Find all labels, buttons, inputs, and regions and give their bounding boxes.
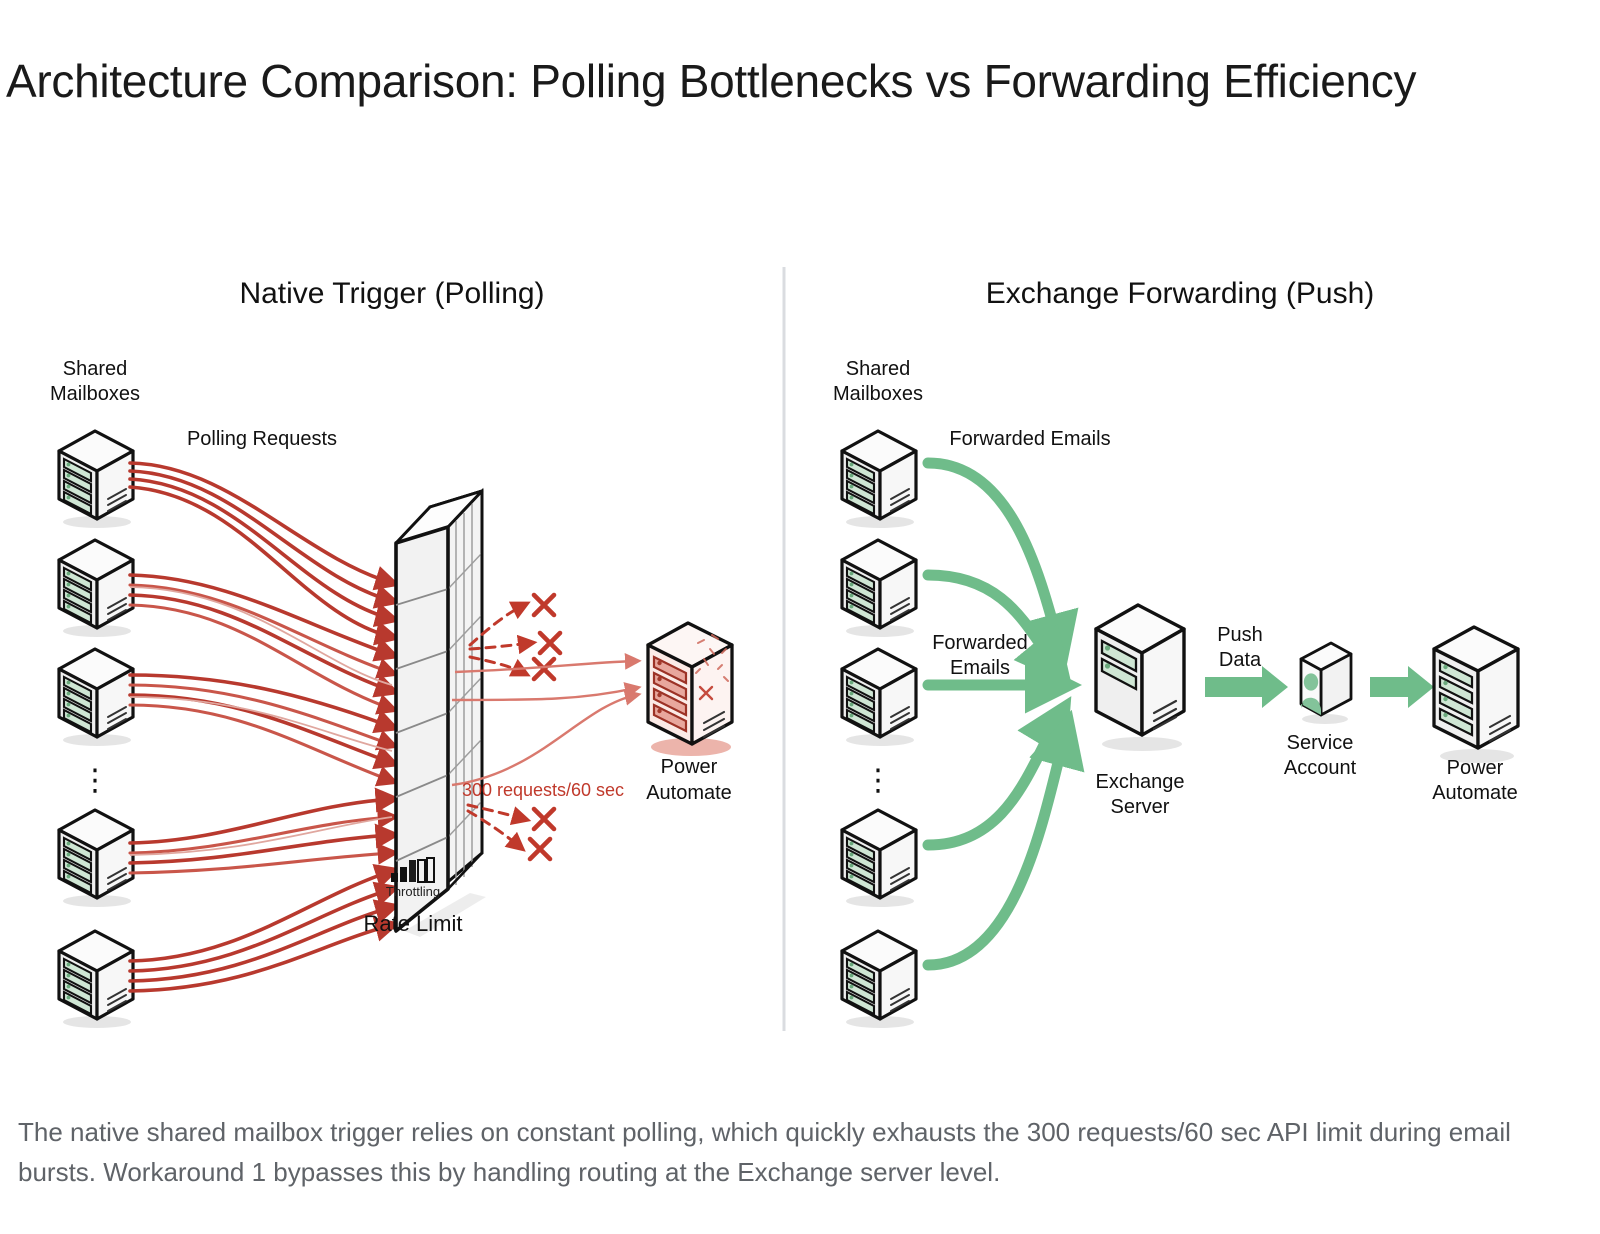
service-to-automate-arrow: [1370, 666, 1434, 708]
push-data-label-line2: Data: [1219, 649, 1262, 671]
right-panel: Exchange Forwarding (Push) Shared Mailbo…: [833, 277, 1518, 1028]
forwarded-email-flows: [928, 463, 1066, 965]
server-icon: [842, 431, 916, 528]
right-destination-label-line2: Automate: [1432, 782, 1518, 804]
rate-limit-label: Rate Limit: [363, 911, 462, 936]
right-panel-title: Exchange Forwarding (Push): [986, 277, 1375, 310]
server-icon: [842, 931, 916, 1028]
right-mailbox-stack: ⋮: [842, 431, 916, 1028]
left-source-label-line2: Mailboxes: [50, 383, 140, 405]
right-flow-label-top: Forwarded Emails: [949, 428, 1110, 450]
left-panel: Native Trigger (Polling) Shared Mailboxe…: [50, 277, 732, 1028]
left-source-label-line1: Shared: [63, 358, 128, 380]
power-automate-server-icon: [648, 623, 732, 756]
left-destination-label-line2: Automate: [646, 782, 732, 804]
server-icon: [59, 649, 133, 746]
right-destination-label-line1: Power: [1447, 757, 1504, 779]
left-panel-title: Native Trigger (Polling): [239, 277, 544, 310]
left-destination-label-line1: Power: [661, 756, 718, 778]
exchange-server-label-line1: Exchange: [1096, 771, 1185, 793]
server-icon: [842, 649, 916, 746]
left-mailbox-ellipsis: ⋮: [80, 764, 110, 797]
left-mailbox-stack: ⋮: [59, 431, 133, 1028]
right-flow-label-mid-line1: Forwarded: [932, 632, 1028, 654]
right-flow-label-mid-line2: Emails: [950, 657, 1010, 679]
polling-request-flows: [130, 463, 392, 991]
service-account-badge-icon: [1301, 643, 1351, 724]
throttling-label: Throttling: [386, 884, 440, 899]
server-icon: [842, 540, 916, 637]
service-account-label-line2: Account: [1284, 757, 1357, 779]
polling-faint-flows: [130, 587, 392, 855]
service-account-label-line1: Service: [1287, 732, 1354, 754]
architecture-diagram: Native Trigger (Polling) Shared Mailboxe…: [0, 245, 1570, 1065]
server-icon: [59, 931, 133, 1028]
figure-caption: The native shared mailbox trigger relies…: [18, 1112, 1548, 1193]
server-icon: [59, 540, 133, 637]
exchange-server-icon: [1096, 605, 1184, 751]
power-automate-server-icon: [1434, 627, 1518, 763]
push-data-label-line1: Push: [1217, 624, 1263, 646]
server-icon: [59, 431, 133, 528]
right-source-label-line1: Shared: [846, 358, 911, 380]
right-mailbox-ellipsis: ⋮: [863, 764, 893, 797]
rate-limit-value: 300 requests/60 sec: [462, 780, 624, 800]
left-flow-label: Polling Requests: [187, 428, 337, 450]
server-icon: [842, 810, 916, 907]
server-icon: [59, 810, 133, 907]
x-mark-icon: [530, 595, 560, 859]
exchange-server-label-line2: Server: [1111, 796, 1170, 818]
page-title: Architecture Comparison: Polling Bottlen…: [6, 52, 1546, 111]
right-source-label-line2: Mailboxes: [833, 383, 923, 405]
push-data-arrow: [1205, 666, 1288, 708]
